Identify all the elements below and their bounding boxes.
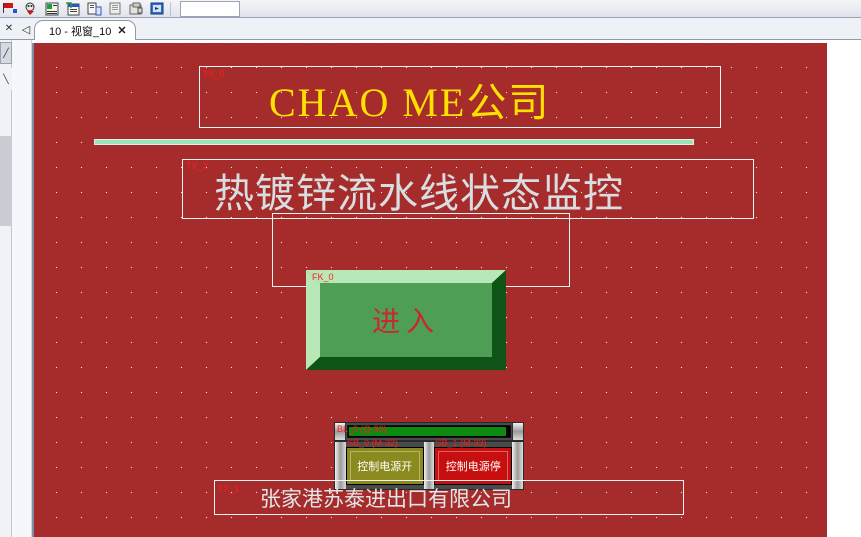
network-icon[interactable]: [21, 0, 42, 18]
tab-label: 10 - 视窗_10: [49, 23, 111, 39]
toolbar-separator: [170, 2, 174, 16]
window-properties-icon[interactable]: [63, 0, 84, 18]
bar-right-cap: [512, 423, 523, 440]
design-canvas[interactable]: TX_0 CHAO ME公司 TX_2 热镀锌流水线状态监控 FK_0: [32, 43, 827, 537]
power-on-button[interactable]: 控制电源开 SB_0 (M-32): [346, 447, 424, 485]
company-text: 张家港苏泰进出口有限公司: [260, 483, 512, 513]
canvas-viewport: TX_0 CHAO ME公司 TX_2 热镀锌流水线状态监控 FK_0: [32, 40, 861, 537]
enter-button-bottom-bevel: [306, 357, 506, 370]
bar-indicator-tag: BL_0 (Q-33): [337, 424, 387, 434]
window-properties-icon-svg: [66, 2, 81, 16]
enter-button-label: 进入: [306, 283, 506, 357]
green-divider-bar[interactable]: [94, 139, 694, 145]
simulate-icon-svg: [150, 2, 165, 16]
open-folder-icon-svg: [129, 2, 144, 16]
document-list-icon-svg: [45, 2, 60, 16]
flag-icon-svg: [3, 2, 18, 15]
toolbar-address-input[interactable]: [180, 1, 240, 17]
enter-button-top-bevel: [306, 270, 506, 283]
power-stop-button-label: 控制电源停: [446, 458, 501, 474]
tab-prev-arrow-icon[interactable]: ◁: [18, 19, 34, 39]
window-tab-bar: ✕ ◁ 10 - 视窗_10 ✕: [0, 18, 861, 40]
company-text-widget[interactable]: TX_1 张家港苏泰进出口有限公司: [214, 480, 684, 515]
title-widget-tag: TX_0: [203, 69, 225, 79]
polyline-tool[interactable]: ╲: [0, 68, 12, 90]
enter-button-widget[interactable]: FK_0 进入: [306, 270, 506, 370]
line-tool-icon: ╱: [3, 49, 8, 58]
document-list-icon[interactable]: [42, 0, 63, 18]
title-text-widget[interactable]: TX_0 CHAO ME公司: [199, 66, 721, 128]
simulate-icon[interactable]: [147, 0, 168, 18]
left-tool-rail: ╱ ╲: [0, 40, 12, 537]
subtitle-widget-tag: TX_2: [186, 161, 208, 171]
subtitle-text: 热镀锌流水线状态监控: [214, 161, 624, 219]
enter-button-tag: FK_0: [312, 272, 334, 282]
print-icon[interactable]: [105, 0, 126, 18]
power-stop-button[interactable]: 控制电源停 SB_1 (M-33): [434, 447, 512, 485]
print-icon-svg: [108, 2, 123, 16]
copy-page-icon-svg: [87, 2, 102, 16]
main-toolbar: [0, 0, 861, 18]
title-text: CHAO ME公司: [269, 70, 550, 128]
copy-page-icon[interactable]: [84, 0, 105, 18]
polyline-tool-icon: ╲: [3, 75, 8, 84]
subtitle-text-widget[interactable]: TX_2 热镀锌流水线状态监控: [182, 159, 754, 219]
canvas-left-gutter: [12, 40, 32, 537]
tabbar-close-icon[interactable]: ✕: [0, 17, 18, 39]
rail-scroll-panel[interactable]: [0, 136, 12, 226]
flag-icon[interactable]: [0, 0, 21, 18]
line-tool[interactable]: ╱: [0, 42, 12, 64]
application-window: ✕ ◁ 10 - 视窗_10 ✕ ╱ ╲ TX_0 CHAO ME公司: [0, 0, 861, 537]
open-folder-icon[interactable]: [126, 0, 147, 18]
company-widget-tag: TX_1: [218, 484, 240, 494]
power-on-button-label: 控制电源开: [357, 458, 412, 474]
power-on-button-tag: SB_0 (M-32): [347, 438, 398, 448]
power-stop-button-tag: SB_1 (M-33): [435, 438, 486, 448]
network-icon-svg: [24, 2, 39, 16]
toolbar-icon-strip: [0, 0, 240, 18]
toolbar-spacer: [240, 0, 861, 18]
tab-window-10[interactable]: 10 - 视窗_10 ✕: [34, 20, 136, 40]
tab-close-icon[interactable]: ✕: [117, 24, 126, 37]
